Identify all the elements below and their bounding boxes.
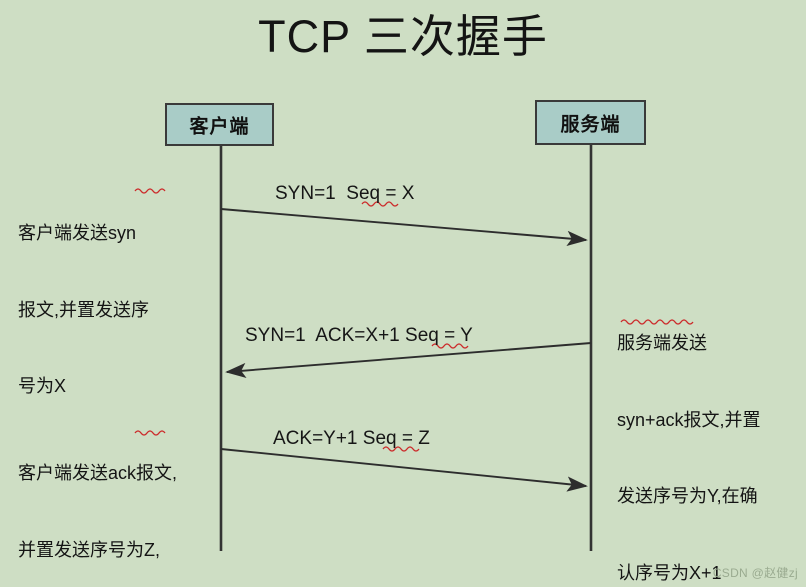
message-label-ack: ACK=Y+1 Seq = Z	[273, 428, 430, 450]
annotation-server-synack: 服务端发送 syn+ack报文,并置 发送序号为Y,在确 认序号为X+1	[617, 280, 761, 587]
annotation-line: 服务端发送	[617, 331, 761, 357]
annotation-line: 客户端发送ack报文,	[18, 461, 177, 487]
annotation-client-ack: 客户端发送ack报文, 并置发送序号为Z, 在确认序号为Y+1	[18, 410, 177, 587]
annotation-line: 客户端发送syn	[18, 221, 149, 247]
watermark: CSDN @赵健zj	[713, 566, 798, 581]
participant-label-client: 客户端	[167, 111, 272, 138]
message-arrow-syn	[221, 209, 586, 240]
annotation-line: 发送序号为Y,在确	[617, 484, 761, 510]
message-arrow-ack	[221, 449, 586, 486]
tcp-handshake-diagram: TCP 三次握手 客户端 服务端 SYN=1	[0, 0, 806, 587]
annotation-line: syn+ack报文,并置	[617, 408, 761, 434]
annotation-client-syn: 客户端发送syn 报文,并置发送序 号为X	[18, 170, 149, 451]
message-label-syn: SYN=1 Seq = X	[275, 183, 414, 205]
message-arrow-synack	[227, 343, 591, 372]
participant-box-server[interactable]: 服务端	[535, 100, 646, 145]
participant-label-server: 服务端	[537, 109, 644, 136]
annotation-line: 号为X	[18, 374, 149, 400]
annotation-line: 报文,并置发送序	[18, 298, 149, 324]
annotation-line: 并置发送序号为Z,	[18, 538, 177, 564]
participant-box-client[interactable]: 客户端	[165, 103, 274, 146]
message-label-synack: SYN=1 ACK=X+1 Seq = Y	[245, 325, 473, 347]
